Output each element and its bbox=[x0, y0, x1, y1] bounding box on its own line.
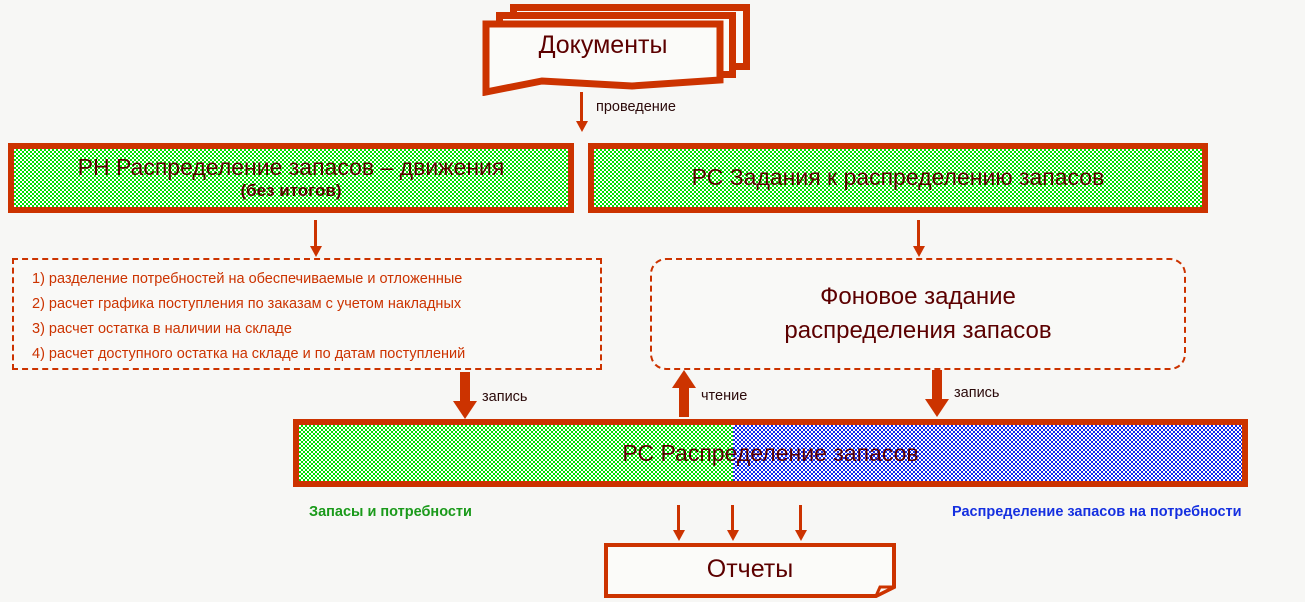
arrow-rn-to-steps bbox=[314, 220, 317, 247]
step-item: 2) расчет графика поступления по заказам… bbox=[32, 292, 590, 317]
register-rn-movements-title: РН Распределение запасов – движения bbox=[78, 155, 505, 181]
register-rs-tasks[interactable]: РС Задания к распределению запасов bbox=[588, 143, 1208, 213]
arrow-rs-tasks-to-background-task bbox=[917, 220, 920, 247]
edge-label-read-middle: чтение bbox=[701, 388, 747, 404]
step-item: 4) расчет доступного остатка на складе и… bbox=[32, 342, 590, 367]
arrow-to-reports-3 bbox=[799, 505, 802, 531]
arrow-write-right bbox=[932, 370, 942, 400]
edge-label-write-right: запись bbox=[954, 385, 999, 401]
arrow-to-reports-1 bbox=[677, 505, 680, 531]
edge-label-write-left: запись bbox=[482, 389, 527, 405]
background-task-line-2: распределения запасов bbox=[784, 314, 1051, 348]
register-rs-distribution-title: РС Распределение запасов bbox=[299, 425, 1242, 481]
arrow-write-left bbox=[460, 372, 470, 402]
edge-label-posting: проведение bbox=[596, 99, 676, 115]
step-item: 1) разделение потребностей на обеспечива… bbox=[32, 267, 590, 292]
arrow-to-reports-2 bbox=[731, 505, 734, 531]
arrow-read-middle bbox=[679, 387, 689, 417]
documents-node-label: Документы bbox=[482, 31, 724, 60]
background-task-line-1: Фоновое задание bbox=[820, 280, 1016, 314]
reports-node-label: Отчеты bbox=[604, 555, 896, 584]
register-rn-movements-subtitle: (без итогов) bbox=[240, 181, 341, 201]
background-task-box: Фоновое задание распределения запасов bbox=[650, 258, 1186, 370]
step-item: 3) расчет остатка в наличии на складе bbox=[32, 317, 590, 342]
register-rn-movements[interactable]: РН Распределение запасов – движения (без… bbox=[8, 143, 574, 213]
diagram-canvas: Документы проведение РН Распределение за… bbox=[0, 0, 1305, 602]
caption-allocation-to-demand: Распределение запасов на потребности bbox=[952, 504, 1242, 520]
calculation-steps-box: 1) разделение потребностей на обеспечива… bbox=[12, 258, 602, 370]
caption-stock-and-demand: Запасы и потребности bbox=[309, 504, 472, 520]
arrow-posting bbox=[580, 92, 583, 122]
register-rs-distribution[interactable]: РС Распределение запасов bbox=[293, 419, 1248, 487]
register-rs-tasks-title: РС Задания к распределению запасов bbox=[692, 165, 1105, 191]
